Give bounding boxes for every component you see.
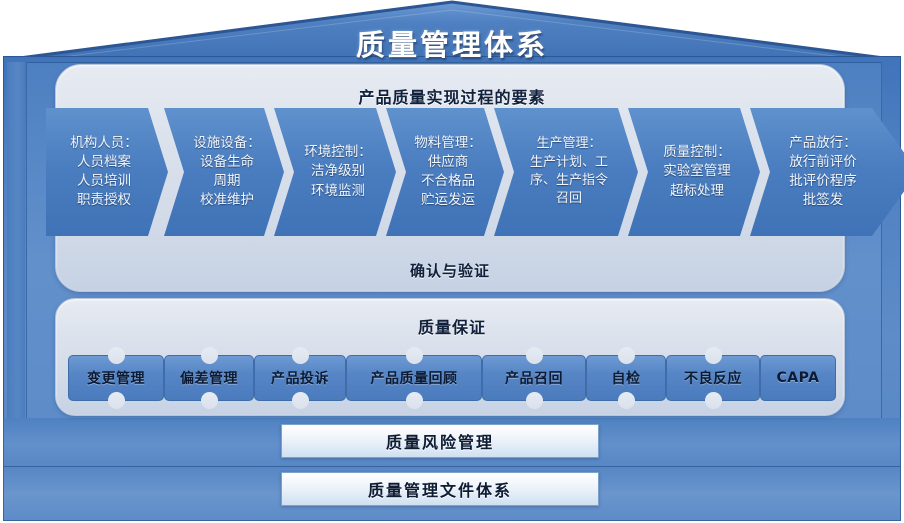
process-step-1[interactable]: 机构人员： 人员档案 人员培训 职责授权 bbox=[46, 108, 168, 236]
line: 产品放行： bbox=[772, 134, 874, 153]
process-step-6[interactable]: 质量控制： 实验室管理 超标处理 bbox=[628, 108, 760, 236]
notch-top-icon bbox=[705, 347, 722, 364]
bar-label: 质量管理文件体系 bbox=[368, 477, 512, 501]
line: 质量控制： bbox=[650, 143, 744, 162]
line: 不合格品 bbox=[408, 172, 488, 191]
assurance-tab-change-control[interactable]: 变更管理 bbox=[68, 355, 164, 401]
line: 生产管理： bbox=[516, 135, 622, 153]
line: 设备生命 bbox=[186, 153, 268, 172]
tab-label: CAPA bbox=[777, 370, 820, 386]
tab-label: 偏差管理 bbox=[180, 368, 238, 388]
line: 环境监测 bbox=[296, 182, 380, 201]
line: 设施设备： bbox=[186, 134, 268, 153]
assurance-tab-deviation[interactable]: 偏差管理 bbox=[164, 355, 254, 401]
line: 职责授权 bbox=[58, 191, 150, 210]
notch-top-icon bbox=[108, 347, 125, 364]
line: 物料管理： bbox=[408, 134, 488, 153]
notch-bottom-icon bbox=[526, 392, 543, 409]
line: 放行前评价 bbox=[772, 153, 874, 172]
process-step-3[interactable]: 环境控制： 洁净级别 环境监测 bbox=[274, 108, 396, 236]
notch-bottom-icon bbox=[406, 392, 423, 409]
line: 校准维护 bbox=[186, 191, 268, 210]
assurance-tab-product-quality-review[interactable]: 产品质量回顾 bbox=[346, 355, 482, 401]
tab-label: 自检 bbox=[612, 368, 641, 388]
process-step-1-lines: 机构人员： 人员档案 人员培训 职责授权 bbox=[58, 134, 150, 211]
tab-label: 产品投诉 bbox=[271, 368, 329, 388]
line: 机构人员： bbox=[58, 134, 150, 153]
bar-label: 质量风险管理 bbox=[386, 429, 494, 453]
process-step-5[interactable]: 生产管理： 生产计划、工 序、生产指令 召回 bbox=[494, 108, 638, 236]
line: 批签发 bbox=[772, 191, 874, 210]
notch-top-icon bbox=[292, 347, 309, 364]
line: 人员培训 bbox=[58, 172, 150, 191]
assurance-tab-adverse-reaction[interactable]: 不良反应 bbox=[666, 355, 760, 401]
process-step-4[interactable]: 物料管理： 供应商 不合格品 贮运发运 bbox=[386, 108, 504, 236]
assurance-tab-capa[interactable]: CAPA bbox=[760, 355, 836, 401]
assurance-tab-self-inspection[interactable]: 自检 bbox=[586, 355, 666, 401]
tab-label: 变更管理 bbox=[87, 368, 145, 388]
notch-bottom-icon bbox=[292, 392, 309, 409]
process-step-7[interactable]: 产品放行： 放行前评价 批评价程序 批签发 bbox=[750, 108, 904, 236]
assurance-tab-complaint[interactable]: 产品投诉 bbox=[254, 355, 346, 401]
line: 实验室管理 bbox=[650, 162, 744, 181]
process-step-2[interactable]: 设施设备： 设备生命 周期 校准维护 bbox=[164, 108, 284, 236]
notch-top-icon bbox=[406, 347, 423, 364]
quality-management-system-diagram: 质量管理体系 产品质量实现过程的要素 机构人员： 人员档案 人员培训 职责授权 … bbox=[0, 0, 904, 523]
process-step-7-lines: 产品放行： 放行前评价 批评价程序 批签发 bbox=[772, 134, 874, 211]
assurance-tab-recall[interactable]: 产品召回 bbox=[482, 355, 586, 401]
line: 环境控制： bbox=[296, 143, 380, 162]
assurance-tab-row: 变更管理 偏差管理 产品投诉 产品质量回顾 产品召回 自检 bbox=[68, 355, 836, 401]
line: 召回 bbox=[516, 190, 622, 208]
process-step-row: 机构人员： 人员档案 人员培训 职责授权 设施设备： 设备生命 周期 校准维护 … bbox=[46, 108, 858, 236]
assurance-panel-heading: 质量保证 bbox=[0, 314, 904, 338]
line: 批评价程序 bbox=[772, 172, 874, 191]
notch-top-icon bbox=[526, 347, 543, 364]
process-step-5-lines: 生产管理： 生产计划、工 序、生产指令 召回 bbox=[516, 135, 622, 209]
page-title: 质量管理体系 bbox=[0, 22, 904, 64]
notch-top-icon bbox=[201, 347, 218, 364]
quality-documentation-system-bar[interactable]: 质量管理文件体系 bbox=[281, 472, 599, 506]
line: 序、生产指令 bbox=[516, 172, 622, 190]
tab-label: 产品质量回顾 bbox=[371, 368, 458, 388]
process-step-2-lines: 设施设备： 设备生命 周期 校准维护 bbox=[186, 134, 268, 211]
notch-bottom-icon bbox=[108, 392, 125, 409]
line: 洁净级别 bbox=[296, 162, 380, 181]
notch-bottom-icon bbox=[618, 392, 635, 409]
process-step-3-lines: 环境控制： 洁净级别 环境监测 bbox=[296, 143, 380, 200]
line: 供应商 bbox=[408, 153, 488, 172]
tab-label: 产品召回 bbox=[505, 368, 563, 388]
line: 人员档案 bbox=[58, 153, 150, 172]
notch-top-icon bbox=[618, 347, 635, 364]
line: 贮运发运 bbox=[408, 191, 488, 210]
validation-label: 确认与验证 bbox=[55, 260, 845, 281]
quality-risk-management-bar[interactable]: 质量风险管理 bbox=[281, 424, 599, 458]
line: 超标处理 bbox=[650, 182, 744, 201]
line: 生产计划、工 bbox=[516, 154, 622, 172]
notch-bottom-icon bbox=[705, 392, 722, 409]
process-step-4-lines: 物料管理： 供应商 不合格品 贮运发运 bbox=[408, 134, 488, 211]
process-panel-heading: 产品质量实现过程的要素 bbox=[0, 84, 904, 108]
tab-label: 不良反应 bbox=[684, 368, 742, 388]
process-step-6-lines: 质量控制： 实验室管理 超标处理 bbox=[650, 143, 744, 200]
notch-bottom-icon bbox=[201, 392, 218, 409]
line: 周期 bbox=[186, 172, 268, 191]
